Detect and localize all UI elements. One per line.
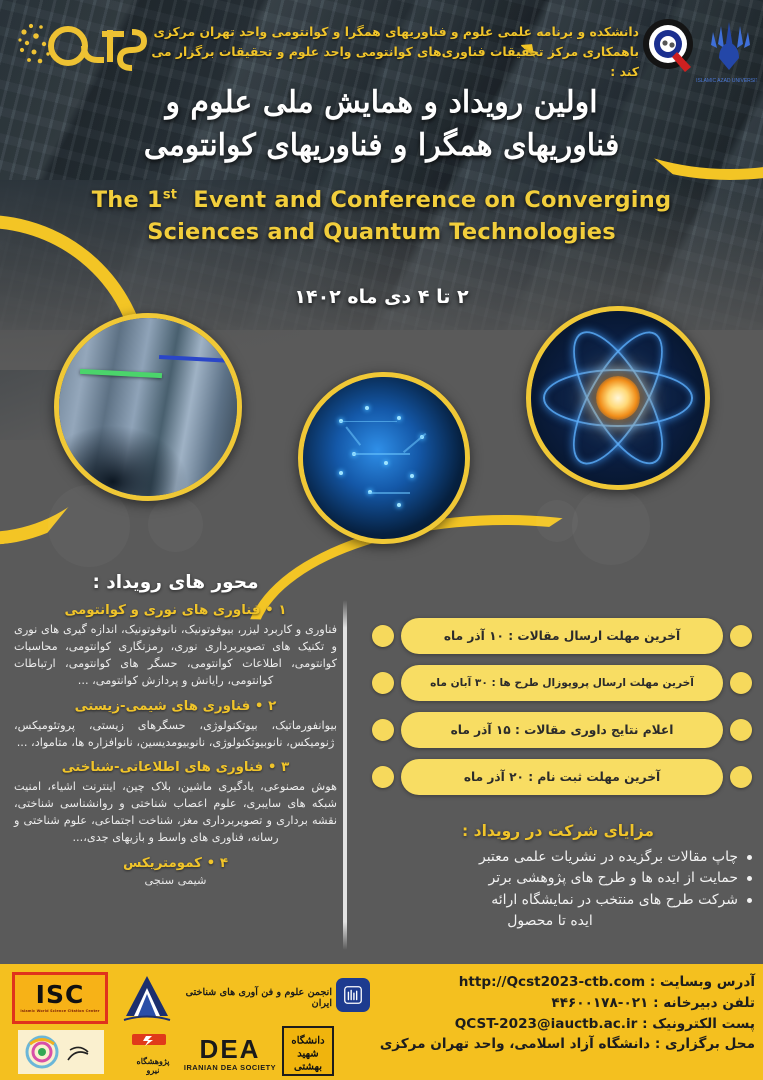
topic-label: کمومتریکس: [123, 856, 202, 871]
english-title-prefix: The 1: [92, 187, 163, 213]
benefit-label: حمایت از ایده ها و طرح های پژوهشی برتر: [489, 870, 738, 886]
benefit-item: چاپ مقالات برگزیده در نشریات علمی معتبر: [362, 847, 754, 868]
organizer-text: دانشکده و برنامه علمی علوم و فناوریهای ه…: [139, 22, 639, 82]
column-divider: [343, 600, 347, 950]
bullet-dot-icon: [730, 625, 752, 647]
venue-label: محل برگزاری :: [655, 1036, 755, 1052]
deadline-row: اعلام نتایج داوری مقالات : ۱۵ آذر ماه: [372, 712, 752, 748]
bullet-dot-icon: [730, 719, 752, 741]
bullet-icon: [747, 855, 752, 860]
bullet-dot-icon: [730, 766, 752, 788]
english-title-rest: Event and Conference on Converging: [193, 187, 671, 213]
isc-logo: ISC Islamic World Science Citation Cente…: [12, 972, 108, 1024]
decorative-circle-2: [148, 497, 203, 552]
bullet-dot-icon: [372, 766, 394, 788]
deadline-pill: آخرین مهلت ثبت نام : ۲۰ آذر ماه: [401, 759, 723, 795]
page-title-english: The 1st Event and Conference on Convergi…: [0, 185, 763, 249]
svg-text:دانشگاه: دانشگاه: [291, 1034, 325, 1047]
deadlines-section: آخرین مهلت ارسال مقالات : ۱۰ آذر ماه آخر…: [372, 618, 752, 806]
contact-info: آدرس وبسایت : http://Qcst2023-ctb.com تل…: [345, 972, 755, 1055]
topics-heading: محور های رویداد :: [8, 572, 343, 593]
bullet-dot-icon: [372, 625, 394, 647]
microscope-objective-lenses-icon: [59, 318, 237, 496]
bullet-dot-icon: [730, 672, 752, 694]
deadline-row: آخرین مهلت ارسال پروپوزال طرح ها : ۳۰ آب…: [372, 665, 752, 701]
conference-poster: دانشکده و برنامه علمی علوم و فناوریهای ه…: [0, 0, 763, 1080]
phone-value: ۰۲۱-۴۴۶۰۰۱۷۸: [551, 995, 648, 1011]
website-label: آدرس وبسایت :: [650, 974, 755, 990]
topic-title: ۲ • فناوری های شیمی-زیستی: [8, 699, 343, 714]
brain-circuit-image-circle: [298, 372, 470, 544]
quantum-research-center-logo: [643, 19, 693, 72]
topic-number: ۲: [268, 699, 276, 714]
topic-number: ۴: [220, 856, 228, 871]
atom-orbiting-electrons-icon: [531, 311, 705, 485]
english-title-line-1: The 1st Event and Conference on Convergi…: [50, 185, 713, 217]
svg-text:DEA: DEA: [200, 1034, 261, 1064]
cognitive-science-society-logo: [116, 972, 178, 1028]
shahid-beheshti-university-logo: دانشگاه شهید بهشتی: [282, 1026, 334, 1076]
poster-footer: ISC Islamic World Science Citation Cente…: [0, 964, 763, 1080]
qcst-logo: [14, 16, 154, 78]
bullet-icon: [747, 898, 752, 903]
topic-body: فناوری و کاربرد لیزر، بیوفوتونیک، نانوفو…: [8, 621, 343, 690]
sponsor-logo-group: ISC Islamic World Science Citation Cente…: [6, 968, 336, 1076]
website-value[interactable]: http://Qcst2023-ctb.com: [459, 974, 645, 990]
persian-title-line-2: فناوریهای همگرا و فناوریهای کوانتومی: [70, 125, 693, 168]
topic-body: هوش مصنوعی، یادگیری ماشین، بلاک چین، این…: [8, 778, 343, 847]
cognitive-science-society-label: انجمن علوم و فن آوری های شناختی ایران: [182, 976, 332, 1020]
organizer-line-1: دانشکده و برنامه علمی علوم و فناوریهای ه…: [139, 22, 639, 42]
benefit-continuation: ایده تا محصول: [362, 911, 754, 932]
topic-item: ۳ • فناوری های اطلاعاتی-شناختی هوش مصنوع…: [8, 760, 343, 847]
topic-title: ۴ • کمومتریکس: [8, 856, 343, 871]
header-logo-group: ISLAMIC AZAD UNIVERSITY: [641, 12, 757, 86]
digital-circuit-brain-icon: [303, 377, 465, 539]
pajooheshgah-niroo-logo: پژوهشگاه نیرو: [124, 1030, 182, 1076]
topic-number: ۱: [278, 603, 286, 618]
svg-text:نیرو: نیرو: [146, 1065, 160, 1076]
poster-header: دانشکده و برنامه علمی علوم و فناوریهای ه…: [0, 8, 763, 80]
topic-bullet: •: [255, 699, 264, 714]
decorative-circle-1: [48, 485, 130, 567]
page-title-persian: اولین رویداد و همایش ملی علوم و فناوریها…: [0, 82, 763, 167]
decorative-circle-4: [536, 500, 578, 542]
topic-label: فناوری های شیمی-زیستی: [75, 699, 251, 714]
isc-logo-text: ISC: [36, 982, 85, 1007]
bullet-dot-icon: [372, 672, 394, 694]
topic-bullet: •: [265, 603, 274, 618]
email-value[interactable]: QCST-2023@iauctb.ac.ir: [455, 1016, 638, 1032]
bullet-icon: [747, 876, 752, 881]
benefit-label: شرکت طرح های منتخب در نمایشگاه ارائه: [491, 892, 738, 908]
ashena-logo: [18, 1030, 104, 1074]
decorative-circle-3: [572, 487, 650, 565]
benefits-section: مزایای شرکت در رویداد : چاپ مقالات برگزی…: [362, 822, 754, 932]
persian-title-line-1: اولین رویداد و همایش ملی علوم و: [70, 82, 693, 125]
benefit-item: شرکت طرح های منتخب در نمایشگاه ارائه: [362, 890, 754, 911]
topic-title: ۳ • فناوری های اطلاعاتی-شناختی: [8, 760, 343, 775]
topic-bullet: •: [207, 856, 216, 871]
deadline-row: آخرین مهلت ثبت نام : ۲۰ آذر ماه: [372, 759, 752, 795]
website-row: آدرس وبسایت : http://Qcst2023-ctb.com: [345, 972, 755, 993]
deadline-pill: آخرین مهلت ارسال مقالات : ۱۰ آذر ماه: [401, 618, 723, 654]
atom-image-circle: [526, 306, 710, 490]
dea-society-logo: DEA IRANIAN DEA SOCIETY: [182, 1032, 278, 1074]
benefit-item: حمایت از ایده ها و طرح های پژوهشی برتر: [362, 868, 754, 889]
venue-row: محل برگزاری : دانشگاه آزاد اسلامی، واحد …: [345, 1034, 755, 1055]
venue-value: دانشگاه آزاد اسلامی، واحد تهران مرکزی: [380, 1036, 650, 1052]
phone-row: تلفن دبیرخانه : ۰۲۱-۴۴۶۰۰۱۷۸: [345, 993, 755, 1014]
phone-label: تلفن دبیرخانه :: [653, 995, 755, 1011]
event-date: ۲ تا ۴ دی ماه ۱۴۰۲: [0, 286, 763, 308]
deadline-row: آخرین مهلت ارسال مقالات : ۱۰ آذر ماه: [372, 618, 752, 654]
isc-logo-subtext: Islamic World Science Citation Center: [20, 1010, 99, 1013]
islamic-azad-university-logo: [711, 22, 750, 70]
topics-section: محور های رویداد : ۱ • فناوری های نوری و …: [8, 572, 343, 896]
topic-item: ۲ • فناوری های شیمی-زیستی بیوانفورماتیک،…: [8, 699, 343, 751]
email-row: پست الکترونیک : QCST-2023@iauctb.ac.ir: [345, 1014, 755, 1035]
bullet-dot-icon: [372, 719, 394, 741]
cogsci-label-text: انجمن علوم و فن آوری های شناختی ایران: [182, 987, 332, 1009]
topic-title: ۱ • فناوری های نوری و کوانتومی: [8, 603, 343, 618]
topic-item: ۴ • کمومتریکس شیمی سنجی: [8, 856, 343, 887]
svg-text:بهشتی: بهشتی: [294, 1060, 322, 1072]
topic-body: شیمی سنجی: [8, 874, 343, 887]
email-label: پست الکترونیک :: [642, 1016, 755, 1032]
english-title-line-2: Sciences and Quantum Technologies: [50, 217, 713, 249]
topic-label: فناوری های نوری و کوانتومی: [64, 603, 260, 618]
deadline-pill: اعلام نتایج داوری مقالات : ۱۵ آذر ماه: [401, 712, 723, 748]
topic-label: فناوری های اطلاعاتی-شناختی: [62, 760, 263, 775]
topic-item: ۱ • فناوری های نوری و کوانتومی فناوری و …: [8, 603, 343, 690]
svg-text:IRANIAN DEA SOCIETY: IRANIAN DEA SOCIETY: [184, 1063, 276, 1072]
topic-body: بیوانفورماتیک، بیوتکنولوژی، حسگرهای زیست…: [8, 717, 343, 751]
benefit-label: چاپ مقالات برگزیده در نشریات علمی معتبر: [479, 849, 738, 865]
svg-text:شهید: شهید: [297, 1048, 319, 1060]
microscope-image-circle: [54, 313, 242, 501]
topic-bullet: •: [268, 760, 277, 775]
topic-number: ۳: [281, 760, 289, 775]
benefits-heading: مزایای شرکت در رویداد :: [362, 822, 754, 840]
deadline-pill: آخرین مهلت ارسال پروپوزال طرح ها : ۳۰ آب…: [401, 665, 723, 701]
ordinal-suffix: st: [163, 188, 177, 203]
organizer-line-2: باهمکاری مرکز تحقیقات فناوری‌های کوانتوم…: [139, 42, 639, 82]
